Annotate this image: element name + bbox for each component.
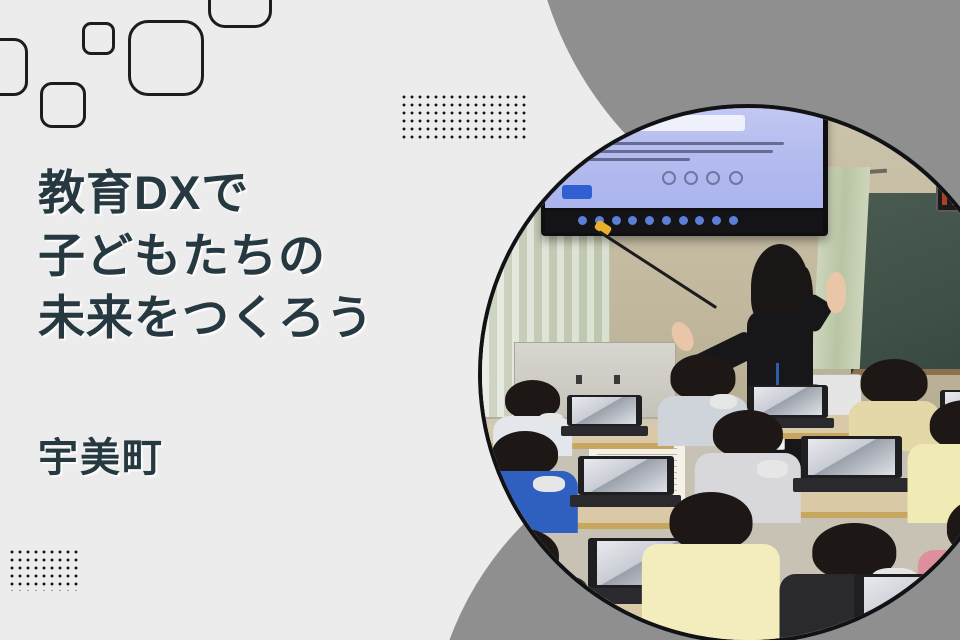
student-head bbox=[669, 492, 752, 550]
student-head bbox=[492, 431, 558, 476]
taskbar-icon bbox=[612, 216, 621, 225]
student-face-mask bbox=[533, 476, 565, 492]
student-laptop bbox=[567, 395, 641, 436]
student-figure bbox=[642, 492, 780, 640]
rounded-square-decoration-5 bbox=[208, 0, 272, 28]
student-figure bbox=[482, 528, 588, 640]
taskbar-icon bbox=[662, 216, 671, 225]
display-taskbar bbox=[545, 211, 824, 233]
taskbar-icon bbox=[695, 216, 704, 225]
page-title: 教育DXで 子どもたちの 未来をつくろう bbox=[38, 162, 374, 350]
display-option-dot bbox=[662, 171, 676, 185]
display-submit-button bbox=[562, 185, 593, 198]
student-face-mask bbox=[757, 460, 789, 478]
student-laptop bbox=[854, 574, 960, 640]
dot-grid-bottom-decoration bbox=[8, 548, 82, 591]
student-laptop bbox=[801, 436, 902, 492]
organization-name: 宇美町 bbox=[38, 425, 164, 483]
teacher-right-hand bbox=[826, 272, 846, 313]
rounded-square-decoration-1 bbox=[0, 38, 28, 96]
student-body bbox=[482, 577, 588, 640]
taskbar-icon bbox=[628, 216, 637, 225]
student-face-mask bbox=[710, 394, 737, 409]
students-group bbox=[482, 385, 960, 640]
taskbar-icon bbox=[645, 216, 654, 225]
classroom-photo-image bbox=[482, 108, 960, 640]
display-text-line bbox=[578, 158, 689, 161]
display-screen bbox=[545, 108, 824, 208]
display-text-line bbox=[578, 150, 773, 153]
taskbar-icon bbox=[578, 216, 587, 225]
chalkboard bbox=[851, 193, 960, 375]
taskbar-icon bbox=[729, 216, 738, 225]
display-content-card bbox=[573, 115, 746, 132]
rounded-square-decoration-4 bbox=[128, 20, 204, 96]
student-figure bbox=[482, 431, 578, 533]
display-text-line bbox=[578, 142, 784, 145]
taskbar-icon bbox=[679, 216, 688, 225]
student-head bbox=[861, 359, 928, 405]
rounded-square-decoration-2 bbox=[40, 82, 86, 128]
student-head bbox=[713, 410, 783, 457]
interactive-whiteboard-display bbox=[541, 108, 828, 236]
student-head bbox=[670, 354, 735, 400]
classroom-photo-circle bbox=[478, 104, 960, 640]
rounded-square-decoration-3 bbox=[82, 22, 115, 55]
taskbar-icon bbox=[712, 216, 721, 225]
classroom-scene bbox=[482, 108, 960, 640]
student-head bbox=[947, 497, 960, 556]
display-option-dot bbox=[706, 171, 720, 185]
digital-clock bbox=[936, 182, 960, 212]
poster-root: 教育DXで 子どもたちの 未来をつくろう 宇美町 bbox=[0, 0, 960, 640]
student-body bbox=[642, 544, 780, 640]
student-head bbox=[482, 528, 559, 582]
student-head bbox=[930, 400, 960, 449]
display-option-dot bbox=[729, 171, 743, 185]
display-option-dot bbox=[684, 171, 698, 185]
student-face-mask bbox=[539, 413, 563, 425]
